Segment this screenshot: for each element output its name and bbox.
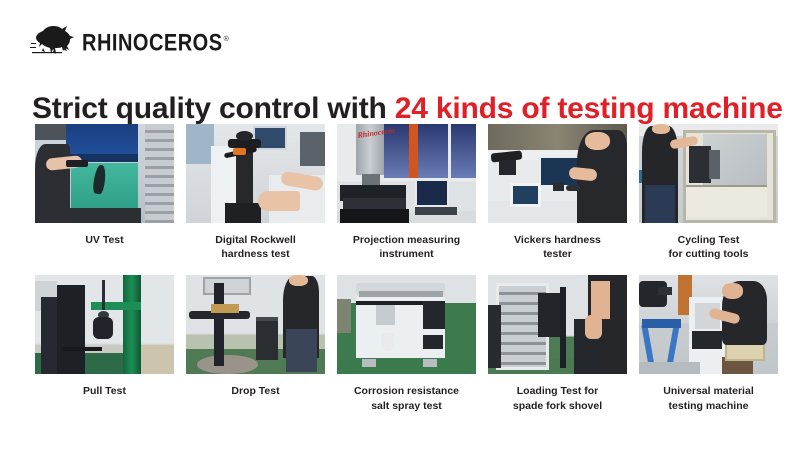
brand-logo: RHINOCEROS ® — [30, 21, 229, 55]
caption-line-2: salt spray test — [337, 399, 476, 413]
gallery-caption: Projection measuring instrument — [337, 233, 476, 261]
caption-line-1: Cycling Test — [678, 234, 740, 246]
gallery-caption: Universal material testing machine — [639, 384, 778, 412]
brand-wordmark: RHINOCEROS — [82, 31, 223, 55]
gallery-item-pull-test[interactable]: Pull Test — [35, 275, 174, 412]
loading-test-rig-photo — [488, 275, 627, 374]
gallery-caption: Corrosion resistance salt spray test — [337, 384, 476, 412]
rhinoceros-silhouette-icon — [30, 21, 84, 55]
gallery-caption: Cycling Test for cutting tools — [639, 233, 778, 261]
uv-test-chamber-photo — [35, 124, 174, 223]
caption-line-1: Pull Test — [83, 385, 126, 397]
headline-highlight: 24 kinds of testing machine — [395, 92, 783, 125]
caption-line-1: Vickers hardness — [514, 234, 601, 246]
gallery-caption: Loading Test for spade fork shovel — [488, 384, 627, 412]
caption-line-2: tester — [488, 247, 627, 261]
gallery-item-vickers-hardness-tester[interactable]: Vickers hardness tester — [488, 124, 627, 261]
caption-line-1: Projection measuring — [353, 234, 460, 246]
gallery-item-projection-measuring-instrument[interactable]: Rhinoceros Projection measuring instrume… — [337, 124, 476, 261]
testing-machine-gallery: UV Test Digital Rockwell hardness test R — [35, 124, 770, 413]
gallery-caption: UV Test — [35, 233, 174, 247]
caption-line-2: for cutting tools — [639, 247, 778, 261]
gallery-caption: Drop Test — [186, 384, 325, 398]
page-title: Strict quality control with 24 kinds of … — [32, 92, 777, 126]
vickers-hardness-tester-photo — [488, 124, 627, 223]
gallery-item-drop-test[interactable]: Drop Test — [186, 275, 325, 412]
caption-line-2: testing machine — [639, 399, 778, 413]
gallery-item-uv-test[interactable]: UV Test — [35, 124, 174, 261]
gallery-item-corrosion-resistance-salt-spray-test[interactable]: Corrosion resistance salt spray test — [337, 275, 476, 412]
gallery-item-digital-rockwell-hardness-test[interactable]: Digital Rockwell hardness test — [186, 124, 325, 261]
projection-measuring-instrument-photo: Rhinoceros — [337, 124, 476, 223]
gallery-row-1: UV Test Digital Rockwell hardness test R — [35, 124, 770, 261]
caption-line-1: Universal material — [663, 385, 753, 397]
gallery-item-loading-test-for-spade-fork-shovel[interactable]: Loading Test for spade fork shovel — [488, 275, 627, 412]
digital-rockwell-hardness-tester-photo — [186, 124, 325, 223]
caption-line-1: Digital Rockwell — [215, 234, 296, 246]
gallery-item-universal-material-testing-machine[interactable]: Universal material testing machine — [639, 275, 778, 412]
caption-line-2: hardness test — [186, 247, 325, 261]
gallery-row-2: Pull Test Drop Test — [35, 275, 770, 412]
cycling-test-machine-photo — [639, 124, 778, 223]
gallery-caption: Digital Rockwell hardness test — [186, 233, 325, 261]
caption-line-1: UV Test — [85, 234, 123, 246]
salt-spray-corrosion-chamber-photo — [337, 275, 476, 374]
pull-test-rig-photo — [35, 275, 174, 374]
gallery-caption: Pull Test — [35, 384, 174, 398]
gallery-item-cycling-test-for-cutting-tools[interactable]: Cycling Test for cutting tools — [639, 124, 778, 261]
universal-material-testing-machine-photo — [639, 275, 778, 374]
caption-line-1: Loading Test for — [517, 385, 598, 397]
caption-line-2: spade fork shovel — [488, 399, 627, 413]
gallery-caption: Vickers hardness tester — [488, 233, 627, 261]
registered-trademark-symbol: ® — [224, 36, 229, 43]
caption-line-2: instrument — [337, 247, 476, 261]
caption-line-1: Corrosion resistance — [354, 385, 459, 397]
headline-lead: Strict quality control with — [32, 92, 395, 125]
drop-test-rig-photo — [186, 275, 325, 374]
caption-line-1: Drop Test — [231, 385, 279, 397]
